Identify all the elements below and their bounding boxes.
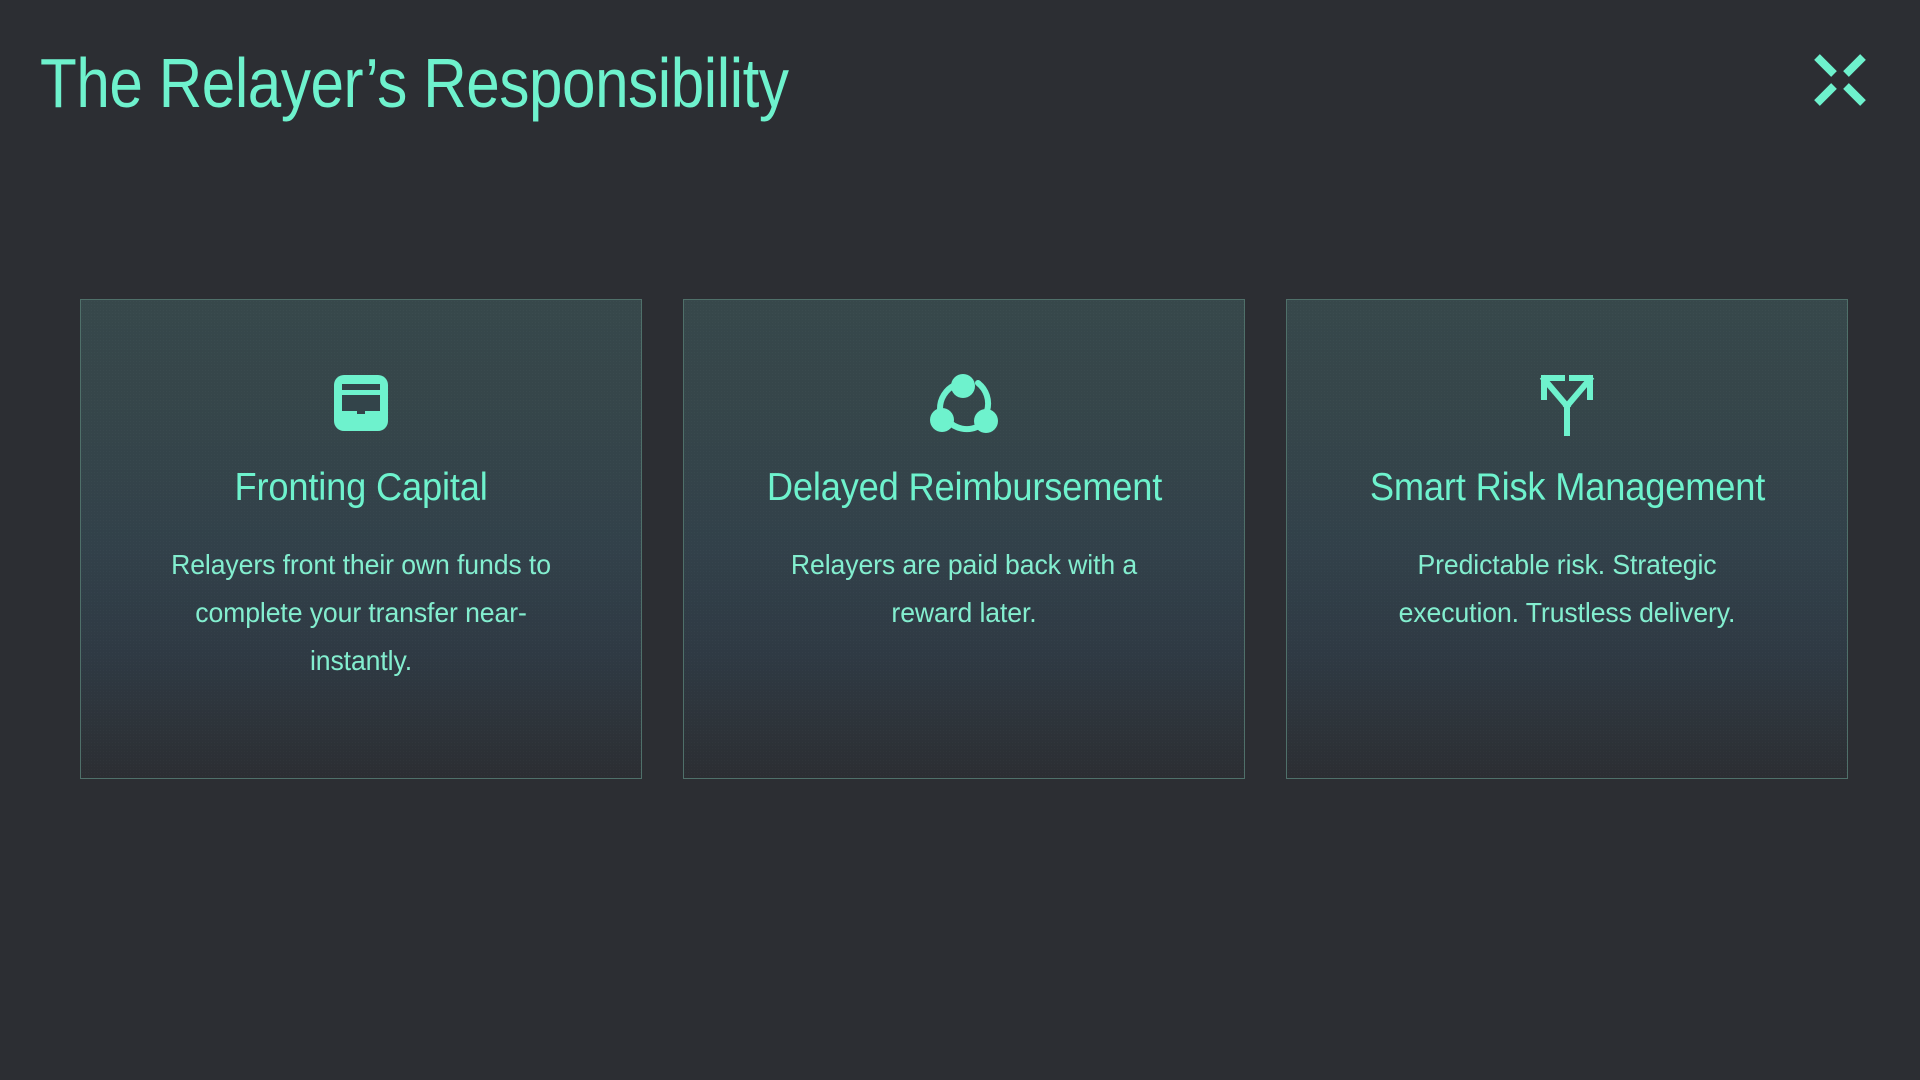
close-icon[interactable] <box>1807 47 1873 113</box>
recycle-cycle-icon <box>928 367 1000 439</box>
card-title: Delayed Reimbursement <box>766 465 1161 511</box>
feature-card-list: Fronting Capital Relayers front their ow… <box>80 299 1848 779</box>
card-title: Smart Risk Management <box>1369 465 1764 511</box>
card-description: Relayers front their own funds to comple… <box>157 541 566 685</box>
card-description: Predictable risk. Strategic execution. T… <box>1363 541 1772 637</box>
panel-header: The Relayer’s Responsibility <box>0 0 1920 170</box>
fork-split-arrows-icon <box>1531 367 1603 439</box>
inbox-tray-icon <box>325 367 397 439</box>
feature-card-fronting-capital[interactable]: Fronting Capital Relayers front their ow… <box>80 299 642 779</box>
feature-card-delayed-reimbursement[interactable]: Delayed Reimbursement Relayers are paid … <box>683 299 1245 779</box>
feature-card-smart-risk-management[interactable]: Smart Risk Management Predictable risk. … <box>1286 299 1848 779</box>
card-description: Relayers are paid back with a reward lat… <box>760 541 1169 637</box>
page-title: The Relayer’s Responsibility <box>40 42 789 124</box>
card-title: Fronting Capital <box>234 465 487 511</box>
relayer-responsibility-panel: The Relayer’s Responsibility <box>0 0 1920 1080</box>
